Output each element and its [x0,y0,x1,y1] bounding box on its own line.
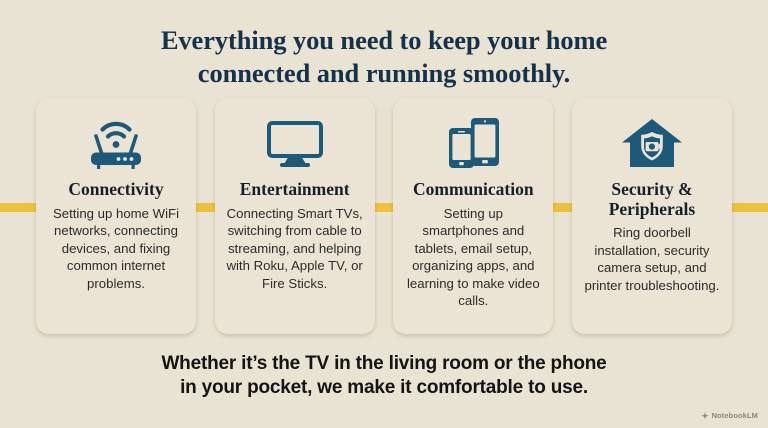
watermark-label: NotebookLM [712,411,758,420]
service-card-title: Connectivity [68,180,163,200]
service-card-entertainment[interactable]: Entertainment Connecting Smart TVs, swit… [215,98,375,334]
service-card-communication[interactable]: Communication Setting up smartphones and… [393,98,553,334]
service-card-description: Connecting Smart TVs, switching from cab… [224,205,366,293]
service-card-title: Communication [413,180,534,200]
service-card-title: Security & Peripherals [581,180,723,219]
page-title: Everything you need to keep your home co… [0,24,768,89]
service-card-description: Setting up home WiFi networks, connectin… [45,205,187,293]
footer-tagline-line-2: in your pocket, we make it comfortable t… [0,376,768,400]
television-icon [263,112,327,174]
footer-tagline: Whether it’s the TV in the living room o… [0,352,768,401]
service-card-list: Connectivity Setting up home WiFi networ… [36,98,732,334]
wifi-router-icon [84,112,148,174]
infographic-canvas: Everything you need to keep your home co… [0,0,768,428]
service-card-description: Setting up smartphones and tablets, emai… [402,205,544,310]
service-card-connectivity[interactable]: Connectivity Setting up home WiFi networ… [36,98,196,334]
footer-tagline-line-1: Whether it’s the TV in the living room o… [161,353,606,374]
phone-tablet-icon [441,112,505,174]
service-card-security-peripherals[interactable]: Security & Peripherals Ring doorbell ins… [572,98,732,334]
home-security-camera-icon [620,112,684,174]
notebooklm-icon [701,412,709,420]
page-title-line-1: Everything you need to keep your home [161,25,607,55]
watermark: NotebookLM [701,411,758,420]
page-title-line-2: connected and running smoothly. [0,57,768,90]
service-card-description: Ring doorbell installation, security cam… [581,224,723,294]
service-card-title: Entertainment [240,180,350,200]
